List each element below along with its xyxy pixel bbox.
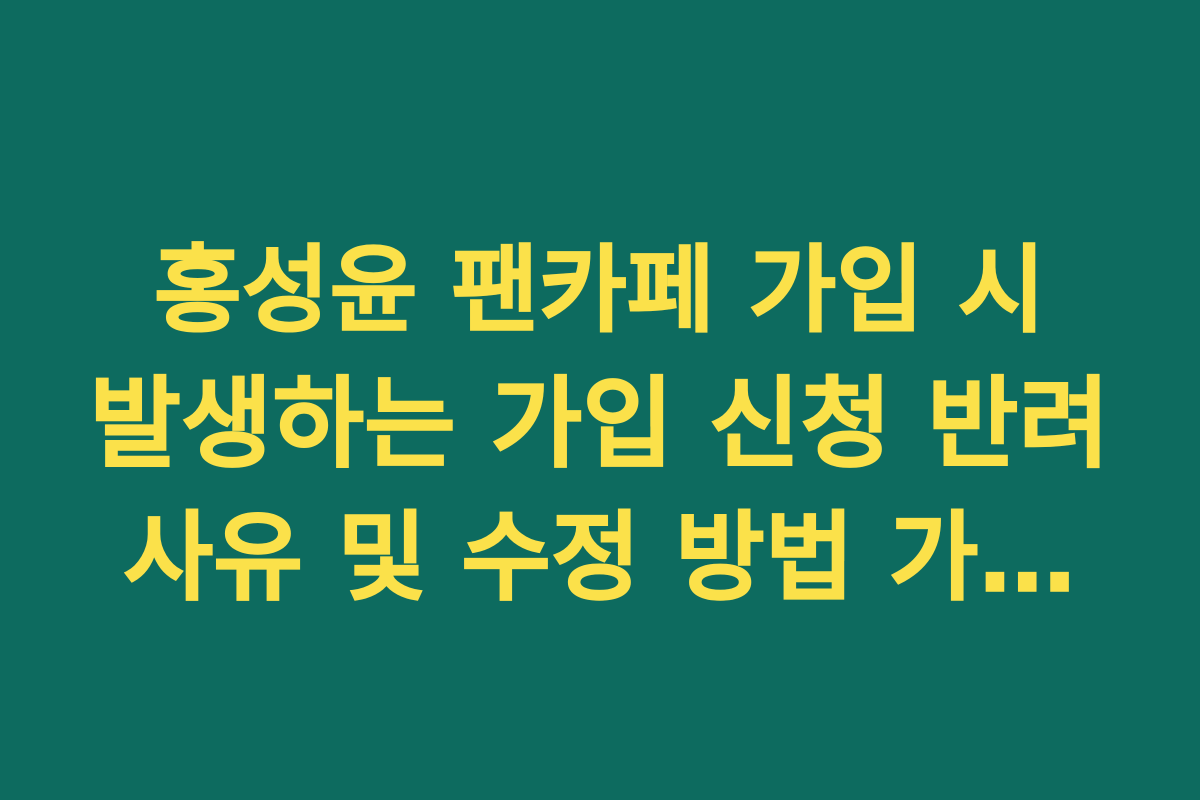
headline-line-1: 홍성윤 팬카페 가입 시 [154, 225, 1046, 358]
headline-line-3: 사유 및 수정 방법 가… [124, 491, 1077, 624]
headline-block: 홍성윤 팬카페 가입 시 발생하는 가입 신청 반려 사유 및 수정 방법 가… [45, 225, 1155, 624]
headline-line-2: 발생하는 가입 신청 반려 [90, 358, 1111, 491]
thumbnail-card: 홍성윤 팬카페 가입 시 발생하는 가입 신청 반려 사유 및 수정 방법 가… [0, 0, 1200, 800]
